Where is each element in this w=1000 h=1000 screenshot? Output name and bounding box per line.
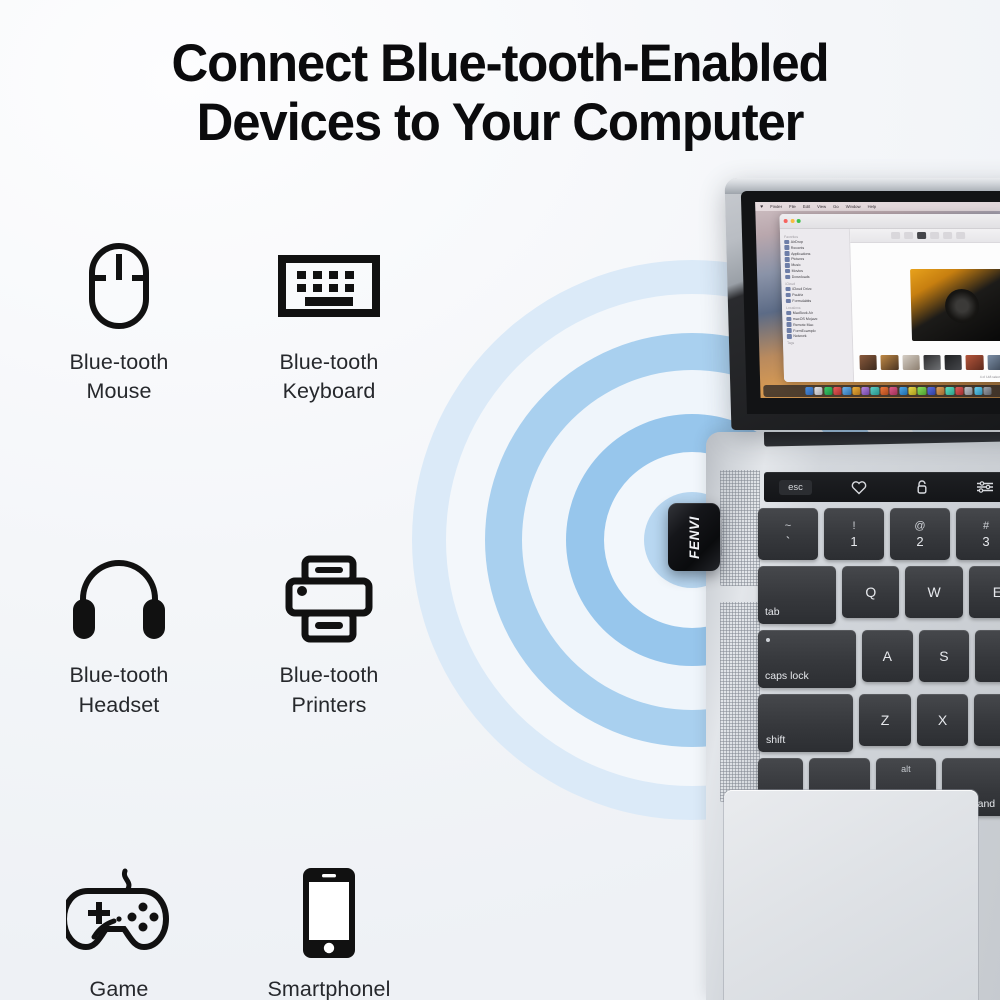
share-button[interactable] xyxy=(930,232,939,239)
menu-item-view[interactable]: View xyxy=(817,204,826,209)
finder-toolbar-buttons[interactable] xyxy=(850,229,1000,243)
minimize-icon[interactable] xyxy=(790,219,794,223)
page-title-line-1: Connect Blue-tooth-Enabled xyxy=(20,34,980,93)
thumbnail[interactable] xyxy=(923,355,941,370)
view-list-button[interactable] xyxy=(904,232,913,239)
sidebar-item-applications[interactable]: Applications xyxy=(784,251,846,255)
search-icon[interactable] xyxy=(956,232,965,239)
menu-item-edit[interactable]: Edit xyxy=(803,204,810,209)
maximize-icon[interactable] xyxy=(797,219,801,223)
device-label-headset: Blue-tooth Headset xyxy=(69,661,168,719)
device-item-printer: Blue-tooth Printers xyxy=(224,543,434,719)
thumbnail[interactable] xyxy=(987,355,1000,370)
device-item-game-controller: Game Controller xyxy=(14,857,224,1000)
device-row-1: Blue-tooth Mouse xyxy=(14,230,434,406)
key-c[interactable] xyxy=(974,694,1000,746)
pictures-icon xyxy=(785,257,790,261)
menu-item-help[interactable]: Help xyxy=(868,204,877,209)
key-command[interactable]: ⌘ command xyxy=(942,758,1000,816)
close-icon[interactable] xyxy=(784,219,788,223)
headset-icon xyxy=(14,543,224,655)
key-x[interactable]: X xyxy=(917,694,969,746)
smartphone-icon xyxy=(224,857,434,969)
keyboard-icon xyxy=(224,230,434,342)
device-list: Blue-tooth Mouse xyxy=(14,230,434,1000)
airdrop-icon xyxy=(784,240,789,244)
sidebar-item-music[interactable]: Music xyxy=(785,263,847,267)
thumbnail[interactable] xyxy=(966,355,984,370)
device-label-game-controller: Game Controller xyxy=(72,975,166,1000)
menu-item-window[interactable]: Window xyxy=(846,204,861,209)
device-label-smartphone: Smartphonel Tablet xyxy=(267,975,390,1000)
device-row-3: Game Controller Smartphonel Tablet xyxy=(14,857,434,1000)
dock-item[interactable] xyxy=(965,387,973,395)
trackpad[interactable] xyxy=(724,790,978,1000)
mouse-icon xyxy=(14,230,224,342)
menu-item-file[interactable]: File xyxy=(789,204,796,209)
dock-item[interactable] xyxy=(974,387,982,395)
device-row-2: Blue-tooth Headset Blue-tooth xyxy=(14,543,434,719)
view-icon-button[interactable] xyxy=(890,232,899,239)
sidebar-item-pictures[interactable]: Pictures xyxy=(785,257,847,261)
sidebar-item-movies[interactable]: Movies xyxy=(785,269,847,273)
dock-item[interactable] xyxy=(946,387,954,395)
apple-logo-icon[interactable]: ♥ xyxy=(760,204,763,210)
sidebar-item-airdrop[interactable]: AirDrop xyxy=(784,240,846,244)
tag-button[interactable] xyxy=(943,232,952,239)
device-label-printer: Blue-tooth Printers xyxy=(279,661,378,719)
dock-item[interactable] xyxy=(955,387,963,395)
device-item-smartphone: Smartphonel Tablet xyxy=(224,857,434,1000)
device-label-keyboard: Blue-tooth Keyboard xyxy=(279,348,378,406)
movies-icon xyxy=(785,269,790,273)
macos-menu-bar[interactable]: ♥ Finder File Edit View Go Window Help xyxy=(755,202,1000,211)
device-item-headset: Blue-tooth Headset xyxy=(14,543,224,719)
finder-titlebar[interactable] xyxy=(779,214,1000,229)
lid-top-edge xyxy=(724,178,1000,194)
preview-image xyxy=(910,269,1000,341)
device-item-keyboard: Blue-tooth Keyboard xyxy=(224,230,434,406)
applications-icon xyxy=(784,251,789,255)
row-spacer-2 xyxy=(14,720,434,857)
view-gallery-button[interactable] xyxy=(917,232,926,239)
music-icon xyxy=(785,263,790,267)
dock-item[interactable] xyxy=(983,387,991,395)
device-item-mouse: Blue-tooth Mouse xyxy=(14,230,224,406)
menu-item-go[interactable]: Go xyxy=(833,204,839,209)
page-title: Connect Blue-tooth-Enabled Devices to Yo… xyxy=(20,34,980,153)
clock-icon xyxy=(784,245,789,249)
page-title-line-2: Devices to Your Computer xyxy=(20,93,980,152)
menu-item-finder[interactable]: Finder xyxy=(770,204,782,209)
printer-icon xyxy=(224,543,434,655)
sidebar-heading-favorites: Favorites xyxy=(784,235,846,239)
thumbnail[interactable] xyxy=(945,355,963,370)
game-controller-icon xyxy=(14,857,224,969)
bluetooth-adapter[interactable]: FENVI xyxy=(668,503,720,571)
key-e[interactable]: E xyxy=(969,566,1000,618)
finder-status-text: 4 of 148 selected xyxy=(980,375,1000,379)
key-d[interactable] xyxy=(975,630,1000,682)
dock-item[interactable] xyxy=(936,387,944,395)
marketing-banner: Connect Blue-tooth-Enabled Devices to Yo… xyxy=(0,0,1000,1000)
device-label-mouse: Blue-tooth Mouse xyxy=(69,348,168,406)
brand-logo: FENVI xyxy=(686,516,701,559)
sidebar-item-recents[interactable]: Recents xyxy=(784,245,846,249)
row-spacer-1 xyxy=(14,406,434,543)
key-option[interactable]: alt option xyxy=(876,758,936,816)
